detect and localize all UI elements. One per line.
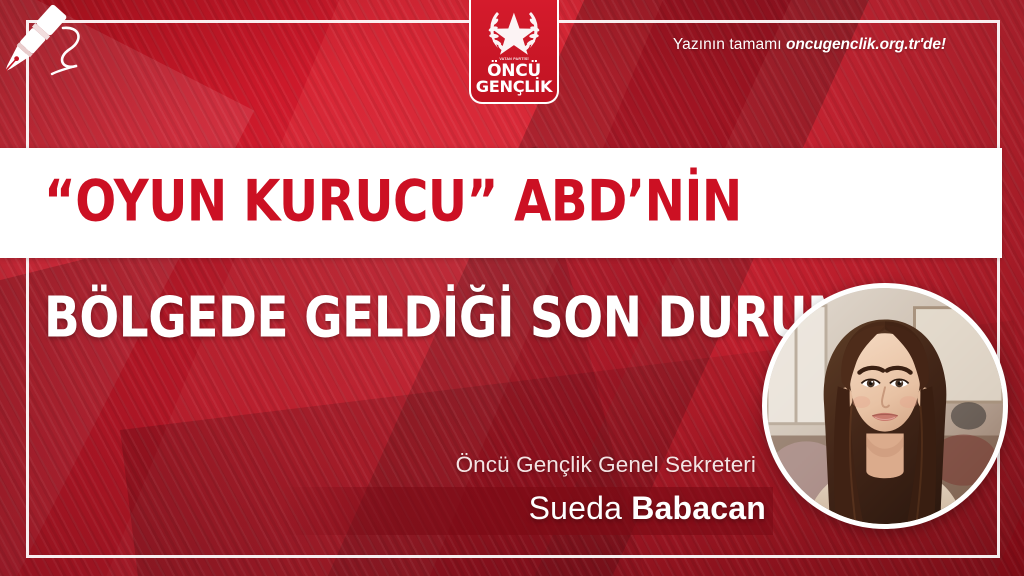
author-name: Sueda Babacan: [529, 490, 766, 527]
headline-band-primary: “OYUN KURUCU” ABD’NİN: [0, 148, 1002, 258]
star-in-laurel-wreath-icon: [483, 5, 545, 57]
tagline-site-link[interactable]: oncugenclik.org.tr'de!: [786, 36, 946, 53]
fountain-pen-icon: [6, 4, 116, 100]
poster-canvas: VATAN PARTİSİ ÖNCÜ GENÇLİK Yazının tamam…: [0, 0, 1024, 576]
author-first-name: Sueda: [529, 490, 623, 526]
oncu-genclik-logo[interactable]: VATAN PARTİSİ ÖNCÜ GENÇLİK: [469, 0, 559, 104]
logo-line-2: GENÇLİK: [476, 79, 553, 95]
website-tagline[interactable]: Yazının tamamı oncugenclik.org.tr'de!: [673, 36, 946, 54]
author-role: Öncü Gençlik Genel Sekreteri: [456, 452, 756, 478]
logo-micro-text: VATAN PARTİSİ: [499, 58, 528, 62]
tagline-prefix: Yazının tamamı: [673, 36, 786, 53]
headline-line-1: “OYUN KURUCU” ABD’NİN: [44, 169, 742, 235]
author-portrait-photo: [767, 288, 1003, 524]
author-last-name: Babacan: [631, 490, 766, 526]
author-portrait: [762, 283, 1008, 529]
headline-line-2: BÖLGEDE GELDİĞİ SON DURUM: [44, 286, 853, 351]
